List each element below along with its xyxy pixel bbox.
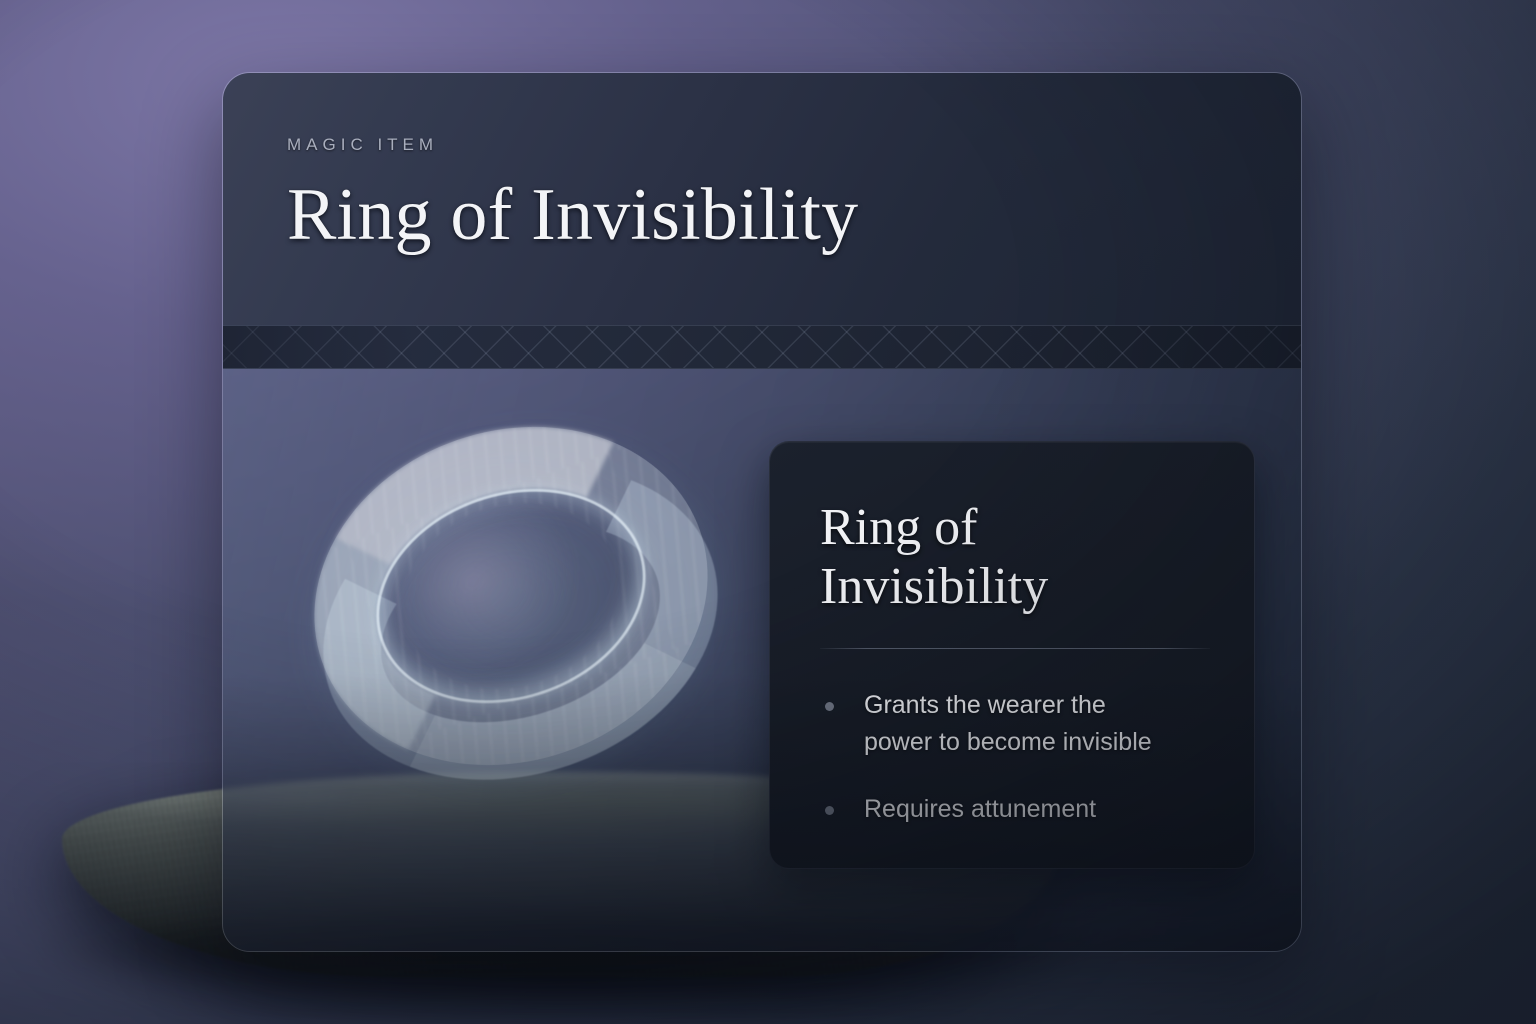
item-properties-list: Grants the wearer the power to become in…: [820, 687, 1210, 829]
bullet-icon: [825, 806, 834, 815]
list-item-text: Grants the wearer the power to become in…: [864, 691, 1152, 757]
lattice-divider: [223, 325, 1301, 369]
list-item-text: Requires attunement: [864, 795, 1096, 823]
ring-icon: [268, 375, 754, 817]
magic-item-card: MAGIC ITEM Ring of Invisibility Ring of …: [222, 72, 1302, 952]
details-divider: [820, 648, 1210, 649]
item-category-label: MAGIC ITEM: [287, 135, 1301, 155]
list-item: Requires attunement: [820, 791, 1172, 829]
scene-stage: MAGIC ITEM Ring of Invisibility Ring of …: [0, 0, 1536, 1024]
bullet-icon: [825, 702, 834, 711]
details-title: Ring of Invisibility: [820, 498, 1110, 617]
card-body: Ring of Invisibility Grants the wearer t…: [223, 369, 1301, 952]
item-details-panel: Ring of Invisibility Grants the wearer t…: [769, 441, 1255, 869]
card-header: MAGIC ITEM Ring of Invisibility: [223, 73, 1301, 325]
list-item: Grants the wearer the power to become in…: [820, 687, 1172, 762]
item-title: Ring of Invisibility: [287, 177, 1301, 255]
